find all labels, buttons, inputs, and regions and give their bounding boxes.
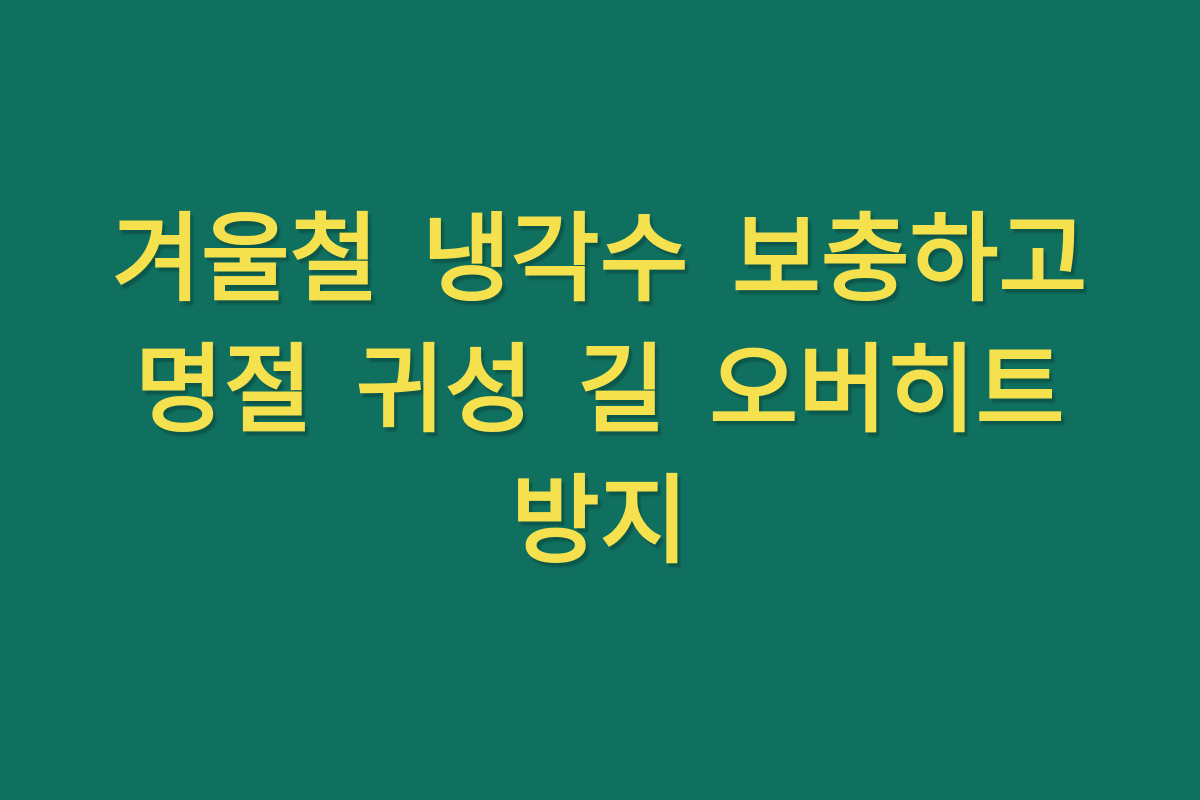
headline-text: 겨울철 냉각수 보충하고 명절 귀성 길 오버히트 방지	[40, 194, 1160, 587]
headline-line-3: 방지	[40, 456, 1160, 587]
banner-canvas: 겨울철 냉각수 보충하고 명절 귀성 길 오버히트 방지	[0, 0, 1200, 800]
headline-line-1: 겨울철 냉각수 보충하고	[40, 194, 1160, 325]
headline-line-2: 명절 귀성 길 오버히트	[40, 325, 1160, 456]
